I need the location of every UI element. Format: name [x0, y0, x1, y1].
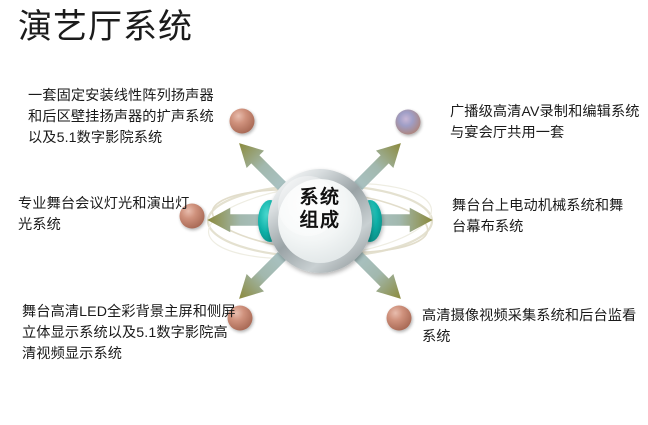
hub-label-line2: 组成	[266, 209, 374, 232]
hub-label-line1: 系统	[266, 186, 374, 209]
page-title: 演艺厅系统	[18, 6, 193, 49]
node-label-bottom-right: 高清摄像视频采集系统和后台监看系统	[422, 306, 637, 348]
node-label-middle-right: 舞台台上电动机械系统和舞台幕布系统	[452, 196, 637, 238]
slide-canvas: 演艺厅系统	[0, 0, 648, 425]
hub-label: 系统 组成	[266, 186, 374, 232]
arrow-down-right	[349, 247, 409, 307]
arrow-down-left	[230, 247, 290, 307]
arrow-left	[207, 208, 268, 233]
sphere-top-left[interactable]	[230, 109, 255, 134]
sphere-top-right[interactable]	[396, 110, 421, 135]
node-label-top-left: 一套固定安装线性阵列扬声器和后区壁挂扬声器的扩声系统以及5.1数字影院系统	[28, 86, 218, 149]
arrow-right	[372, 208, 433, 233]
node-label-middle-left: 专业舞台会议灯光和演出灯光系统	[18, 194, 198, 236]
sphere-bottom-right[interactable]	[387, 306, 412, 331]
node-label-bottom-left: 舞台高清LED全彩背景主屏和侧屏立体显示系统以及5.1数字影院高清视频显示系统	[22, 302, 237, 365]
node-label-top-right: 广播级高清AV录制和编辑系统与宴会厅共用一套	[450, 102, 640, 144]
